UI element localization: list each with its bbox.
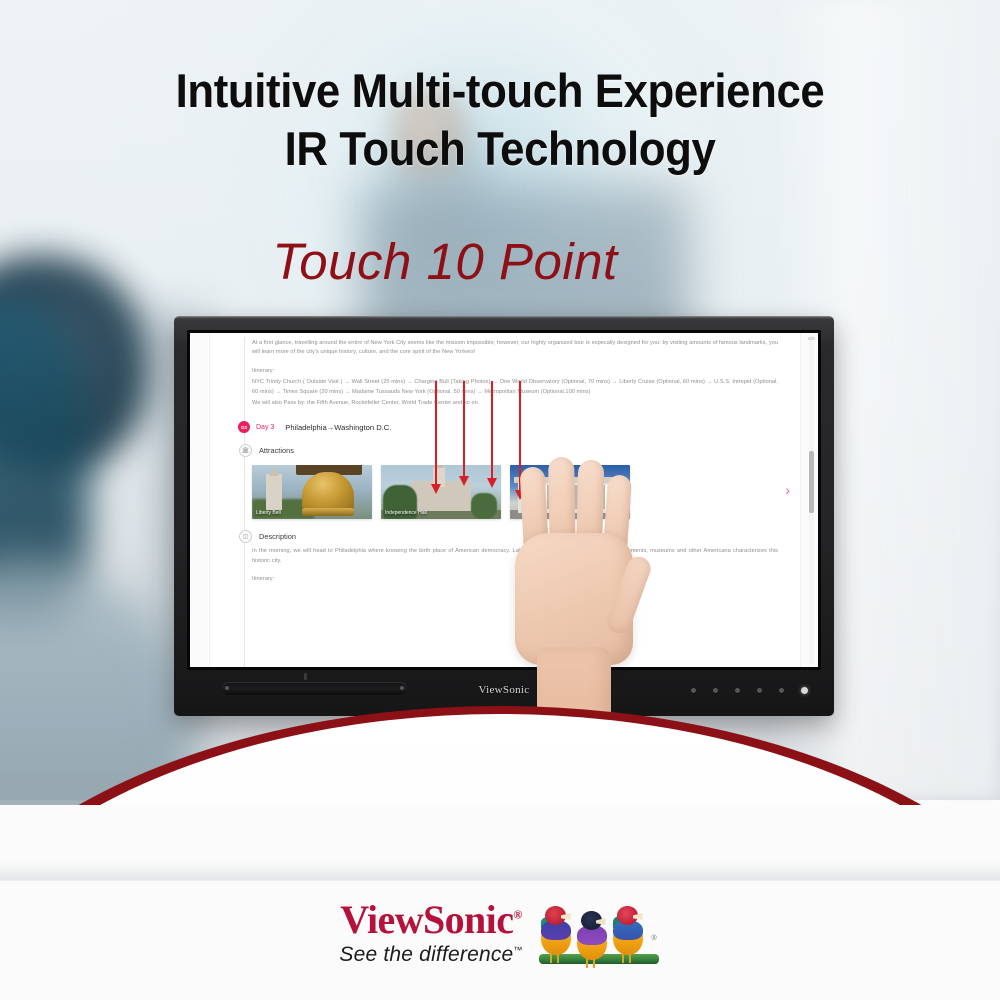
intro-paragraph: At a first glance, travelling around the…	[252, 339, 778, 358]
subtitle-touch-points: Touch 10 Point	[0, 232, 1000, 291]
tagline-text: See the difference	[339, 943, 513, 966]
scrollbar-top-marker	[808, 337, 815, 340]
bird-leg-left	[550, 954, 552, 963]
viewsonic-logo: ViewSonic® See the difference™	[0, 900, 1000, 967]
attraction-thumb-liberty-bell[interactable]: Liberty Bell	[252, 465, 372, 519]
brand-tagline: See the difference™	[339, 943, 522, 967]
thumb-liberty-bell	[302, 472, 354, 512]
registered-mark: ®	[513, 908, 521, 922]
monitor-control-buttons[interactable]	[691, 687, 808, 694]
day-row[interactable]: D3 Day 3 Philadelphia→Washington D.C.	[252, 421, 778, 433]
bird-leg-left	[622, 954, 624, 963]
down-button[interactable]	[735, 688, 740, 693]
thumb-tower	[266, 474, 282, 510]
paragraph-spacer	[252, 360, 778, 367]
headline-line-2: IR Touch Technology	[35, 124, 965, 174]
next-section-label: Itinerary:	[252, 575, 778, 584]
attraction-thumb-lincoln-memorial[interactable]	[510, 465, 630, 519]
thumb-columns	[524, 485, 616, 509]
thumb-spire	[433, 467, 445, 487]
monitor-device: At a first glance, travelling around the…	[174, 316, 834, 716]
promo-banner: Intuitive Multi-touch Experience IR Touc…	[0, 0, 1000, 1000]
description-header: ◫ Description	[252, 530, 778, 543]
headline-block: Intuitive Multi-touch Experience IR Touc…	[0, 66, 1000, 174]
footer-divider	[0, 880, 1000, 881]
scrollbar-thumb[interactable]	[809, 451, 814, 513]
bird-leg-right	[557, 954, 559, 963]
thumb-roof	[514, 477, 626, 483]
bird-leg-right	[629, 954, 631, 963]
screen-surface[interactable]: At a first glance, travelling around the…	[190, 333, 818, 667]
day-label: Day 3	[256, 424, 274, 431]
mascot-registered-mark: ®	[651, 935, 656, 942]
up-button[interactable]	[713, 688, 718, 693]
thumb-caption: Liberty Bell	[256, 510, 281, 516]
bird-leg-left	[586, 959, 588, 968]
description-title: Description	[259, 532, 296, 541]
indicator-mark	[304, 673, 307, 680]
timeline-rail	[244, 337, 245, 667]
footer-shade	[0, 862, 1000, 880]
itinerary-line-1: NYC Trinity Church ( Outside Visit ) → W…	[252, 378, 778, 397]
attraction-thumbnails: Liberty Bell Independence Hall	[252, 465, 778, 519]
document-body: At a first glance, travelling around the…	[252, 339, 778, 667]
power-button[interactable]	[801, 687, 808, 694]
description-text: In the morning, we will head to Philadel…	[252, 547, 778, 566]
travel-itinerary-page: At a first glance, travelling around the…	[210, 333, 800, 667]
headline-line-1: Intuitive Multi-touch Experience	[35, 66, 965, 116]
input-button[interactable]	[757, 688, 762, 693]
itinerary-line-2: We will also Pass by: the Fifth Avenue, …	[252, 399, 778, 408]
itinerary-heading: Itinerary:	[252, 367, 778, 376]
attractions-title: Attractions	[259, 446, 294, 455]
museum-icon: 🏛	[239, 444, 252, 457]
brand-name: ViewSonic®	[339, 900, 522, 940]
attraction-thumb-independence-hall[interactable]: Independence Hall	[381, 465, 501, 519]
thumb-caption: Independence Hall	[385, 510, 427, 516]
chevron-right-icon[interactable]: ›	[785, 483, 790, 497]
gouldian-finches-icon: ®	[539, 902, 661, 964]
day-route: Philadelphia→Washington D.C.	[285, 423, 391, 432]
brand-text: ViewSonic	[340, 897, 513, 942]
document-icon: ◫	[239, 530, 252, 543]
paragraph-spacer-2	[252, 568, 778, 575]
menu-button[interactable]	[691, 688, 696, 693]
exit-button[interactable]	[779, 688, 784, 693]
thumb-tree-right	[471, 493, 497, 519]
monitor-panel: At a first glance, travelling around the…	[187, 330, 821, 670]
day-badge: D3	[238, 421, 250, 433]
bird-leg-right	[593, 959, 595, 968]
attractions-header: 🏛 Attractions	[252, 444, 778, 457]
viewsonic-wordmark: ViewSonic® See the difference™	[339, 900, 522, 967]
trademark-mark: ™	[513, 945, 522, 955]
